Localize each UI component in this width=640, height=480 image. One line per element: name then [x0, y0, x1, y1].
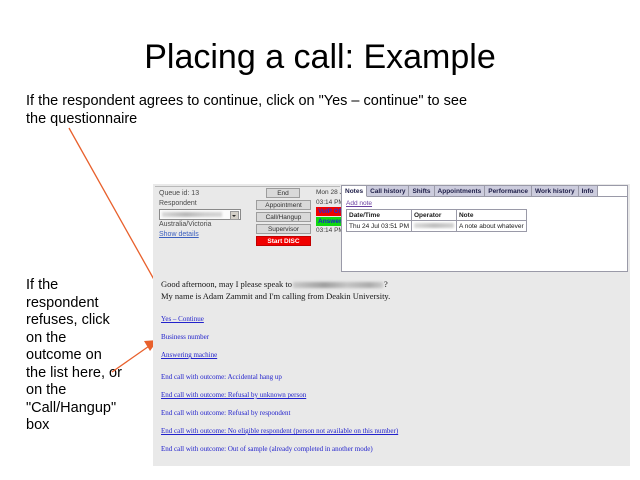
outcome-refusal-unknown-person[interactable]: End call with outcome: Refusal by unknow… [161, 391, 601, 400]
chevron-down-icon[interactable] [230, 211, 239, 220]
toolbar-divider [155, 186, 340, 187]
call-hangup-button[interactable]: Call/Hangup [256, 212, 311, 222]
tab-notes[interactable]: Notes [342, 186, 367, 197]
show-details-link[interactable]: Show details [159, 231, 199, 238]
respondent-select[interactable] [159, 209, 241, 220]
appointment-button[interactable]: Appointment [256, 200, 311, 210]
page-title: Placing a call: Example [0, 38, 640, 77]
respondent-info: Queue id: 13 Respondent Australia/Victor… [159, 189, 249, 239]
outcome-refusal-respondent[interactable]: End call with outcome: Refusal by respon… [161, 409, 601, 418]
operator-redacted [414, 223, 454, 228]
tab-bar: Notes Call history Shifts Appointments P… [342, 186, 627, 197]
respondent-value-redacted [162, 212, 222, 217]
supervisor-button[interactable]: Supervisor [256, 224, 311, 234]
annotation-top: If the respondent agrees to continue, cl… [26, 92, 486, 128]
end-button[interactable]: End [266, 188, 300, 198]
outcome-no-eligible-respondent[interactable]: End call with outcome: No eligible respo… [161, 427, 601, 436]
tab-performance[interactable]: Performance [485, 186, 532, 197]
script-line1-before: Good afternoon, may I please speak to [161, 279, 292, 289]
annotation-left: If the respondent refuses, click on the … [26, 277, 122, 435]
outcome-answering-machine[interactable]: Answering machine [161, 351, 601, 360]
tab-call-history[interactable]: Call history [367, 186, 409, 197]
tab-bar-filler [598, 186, 627, 197]
script-line2: My name is Adam Zammit and I'm calling f… [161, 291, 390, 301]
notes-table: Date/Time Operator Note Thu 24 Jul 03:51… [346, 209, 527, 232]
info-tab-panel: Notes Call history Shifts Appointments P… [341, 185, 628, 272]
start-disc-button[interactable]: Start DISC [256, 236, 311, 246]
script-line1-after: ? [384, 279, 388, 289]
outcome-yes-continue[interactable]: Yes – Continue [161, 315, 601, 324]
tab-work-history[interactable]: Work history [532, 186, 579, 197]
queue-id-label: Queue id: 13 [159, 189, 249, 199]
call-action-buttons: End Appointment Call/Hangup Supervisor S… [256, 188, 313, 248]
outcome-link-list: Yes – Continue Business number Answering… [161, 315, 601, 463]
cell-datetime: Thu 24 Jul 03:51 PM [347, 221, 412, 232]
respondent-name-redacted [293, 282, 383, 288]
outcome-out-of-sample[interactable]: End call with outcome: Out of sample (al… [161, 445, 601, 454]
timezone-label: Australia/Victoria [159, 220, 249, 230]
call-script: Good afternoon, may I please speak to? M… [161, 279, 621, 302]
outcome-accidental-hang-up[interactable]: End call with outcome: Accidental hang u… [161, 373, 601, 382]
tab-info[interactable]: Info [579, 186, 598, 197]
cell-note: A note about whatever [456, 221, 526, 232]
add-note-link[interactable]: Add note [346, 200, 627, 207]
column-header-datetime: Date/Time [347, 210, 412, 221]
outcome-business-number[interactable]: Business number [161, 333, 601, 342]
table-row: Thu 24 Jul 03:51 PM A note about whateve… [347, 221, 527, 232]
column-header-operator: Operator [411, 210, 456, 221]
cell-operator [411, 221, 456, 232]
table-header-row: Date/Time Operator Note [347, 210, 527, 221]
slide: Placing a call: Example If the responden… [0, 0, 640, 480]
tab-appointments[interactable]: Appointments [435, 186, 486, 197]
app-screenshot: Queue id: 13 Respondent Australia/Victor… [153, 184, 630, 466]
column-header-note: Note [456, 210, 526, 221]
respondent-label: Respondent [159, 199, 249, 209]
app-toolbar: Queue id: 13 Respondent Australia/Victor… [153, 184, 630, 266]
tab-shifts[interactable]: Shifts [409, 186, 434, 197]
